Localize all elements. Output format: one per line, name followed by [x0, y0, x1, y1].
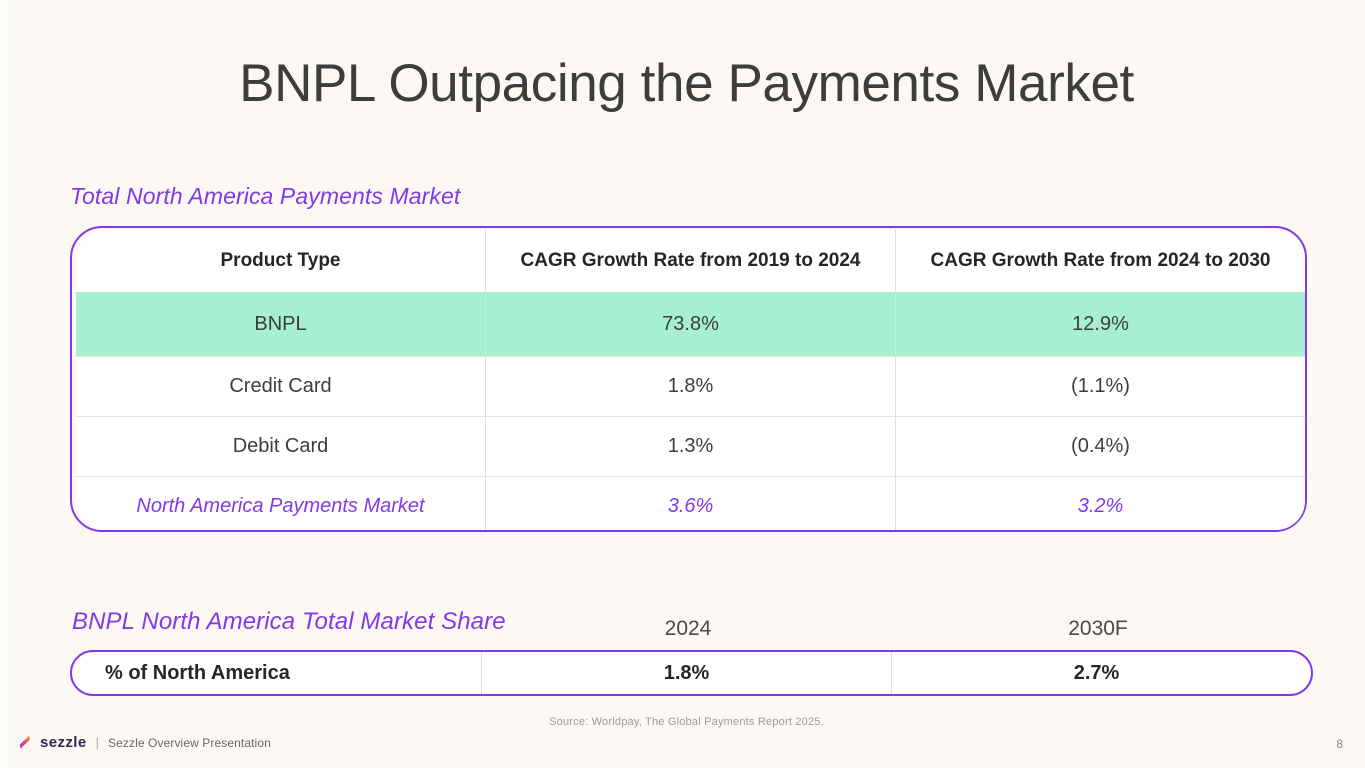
footer-divider: | — [96, 735, 99, 750]
cell-product-debit-card: Debit Card — [76, 417, 485, 476]
table-row: Credit Card 1.8% (1.1%) — [76, 356, 1305, 416]
payments-market-table-body: Product Type CAGR Growth Rate from 2019 … — [76, 230, 1305, 530]
share-column-label-2030f: 2030F — [893, 617, 1303, 641]
section-heading-market: Total North America Payments Market — [70, 183, 460, 210]
cell-na-payments-cagr-2024-2030: 3.2% — [895, 477, 1305, 530]
source-note: Source: Worldpay, The Global Payments Re… — [8, 716, 1365, 728]
column-header-product-type: Product Type — [76, 230, 485, 292]
table-row-total: North America Payments Market 3.6% 3.2% — [76, 476, 1305, 530]
table-row: Debit Card 1.3% (0.4%) — [76, 416, 1305, 476]
footer-wordmark: sezzle — [40, 734, 87, 751]
cell-credit-card-cagr-2019-2024: 1.8% — [485, 357, 895, 416]
slide-footer: sezzle | Sezzle Overview Presentation 8 — [8, 732, 1365, 768]
cell-product-bnpl: BNPL — [76, 292, 485, 356]
cell-debit-card-cagr-2024-2030: (0.4%) — [895, 417, 1305, 476]
page-title: BNPL Outpacing the Payments Market — [8, 52, 1365, 116]
cell-product-na-payments-market: North America Payments Market — [76, 477, 485, 530]
footer-brand: sezzle | Sezzle Overview Presentation — [16, 734, 271, 751]
cell-na-payments-cagr-2019-2024: 3.6% — [485, 477, 895, 530]
column-header-cagr-2024-2030: CAGR Growth Rate from 2024 to 2030 — [895, 230, 1305, 292]
payments-market-table: Product Type CAGR Growth Rate from 2019 … — [70, 226, 1307, 532]
cell-bnpl-cagr-2024-2030: 12.9% — [895, 292, 1305, 356]
section-heading-market-share: BNPL North America Total Market Share — [72, 608, 506, 636]
table-header-row: Product Type CAGR Growth Rate from 2019 … — [76, 230, 1305, 292]
market-share-table: % of North America 1.8% 2.7% — [70, 650, 1313, 696]
sezzle-logo-icon — [16, 734, 33, 751]
cell-bnpl-cagr-2019-2024: 73.8% — [485, 292, 895, 356]
cell-debit-card-cagr-2019-2024: 1.3% — [485, 417, 895, 476]
cell-credit-card-cagr-2024-2030: (1.1%) — [895, 357, 1305, 416]
footer-subtitle: Sezzle Overview Presentation — [108, 736, 271, 750]
cell-share-2030f: 2.7% — [891, 652, 1301, 694]
column-header-cagr-2019-2024: CAGR Growth Rate from 2019 to 2024 — [485, 230, 895, 292]
cell-share-label: % of North America — [72, 652, 481, 694]
page-number: 8 — [1336, 737, 1343, 751]
cell-product-credit-card: Credit Card — [76, 357, 485, 416]
table-row: BNPL 73.8% 12.9% — [76, 292, 1305, 356]
share-column-label-2024: 2024 — [483, 617, 893, 641]
cell-share-2024: 1.8% — [481, 652, 891, 694]
slide-canvas: BNPL Outpacing the Payments Market Total… — [0, 0, 1365, 768]
